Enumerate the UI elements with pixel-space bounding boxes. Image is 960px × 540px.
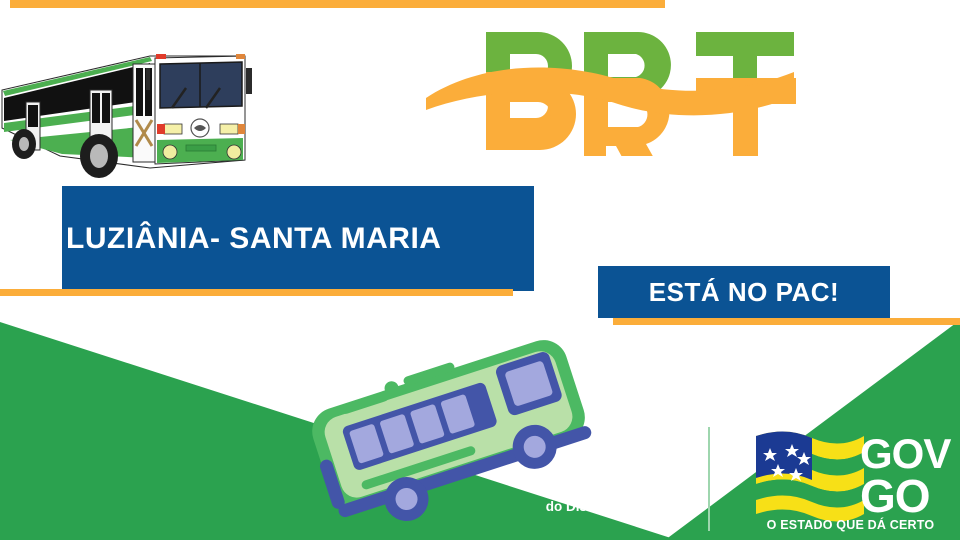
sedf-line-1: Secretaria de	[430, 462, 665, 480]
top-accent-rule	[10, 0, 665, 8]
logo-divider	[708, 427, 710, 531]
title-banner: LUZIÂNIA- SANTA MARIA	[62, 186, 534, 291]
govgo-line2: GO	[860, 470, 930, 522]
pac-banner-label: ESTÁ NO PAC!	[649, 277, 839, 308]
goias-flag-icon	[756, 431, 864, 521]
govgo-tagline: O ESTADO QUE DÁ CERTO	[748, 518, 953, 532]
sedf-line-3: do Distrito Federal	[430, 498, 665, 516]
sedf-line-2: Estado do Entorno	[430, 480, 665, 498]
pac-accent-rule	[613, 318, 960, 325]
poster-canvas: LUZIÂNIA- SANTA MARIA ESTÁ NO PAC!	[0, 0, 960, 540]
brt-logo	[424, 16, 796, 156]
bus-photo	[0, 28, 270, 178]
sedf-logo-block: SEDF Secretaria de Estado do Entorno do …	[430, 440, 665, 516]
pac-banner: ESTÁ NO PAC!	[598, 266, 890, 318]
sedf-acronym: SEDF	[430, 440, 665, 462]
title-accent-rule	[0, 289, 513, 296]
page-title: LUZIÂNIA- SANTA MARIA	[62, 222, 441, 256]
